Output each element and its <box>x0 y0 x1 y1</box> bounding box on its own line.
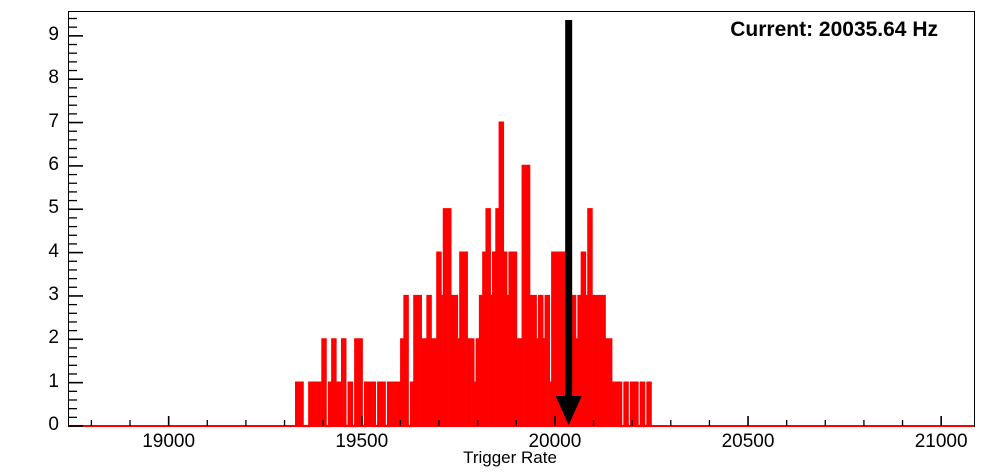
histogram-bars <box>69 123 974 426</box>
y-tick-label: 5 <box>29 197 59 219</box>
y-tick-label: 2 <box>29 327 59 349</box>
x-tick-label: 19500 <box>302 431 422 453</box>
y-tick-label: 9 <box>29 24 59 46</box>
x-tick-label: 20500 <box>688 431 808 453</box>
x-tick-label: 19000 <box>109 431 229 453</box>
plot-svg <box>0 0 996 472</box>
y-tick-label: 7 <box>29 111 59 133</box>
y-tick-label: 1 <box>29 371 59 393</box>
x-tick-label: 21000 <box>881 431 996 453</box>
y-tick-label: 8 <box>29 67 59 89</box>
x-axis-title: Trigger Rate <box>410 448 610 468</box>
y-tick-label: 6 <box>29 154 59 176</box>
current-rate-readout: Current: 20035.64 Hz <box>730 18 938 42</box>
y-tick-label: 0 <box>29 414 59 436</box>
y-tick-label: 3 <box>29 284 59 306</box>
root-histogram-canvas: 0123456789 1900019500200002050021000 Tri… <box>0 0 996 472</box>
y-tick-label: 4 <box>29 241 59 263</box>
